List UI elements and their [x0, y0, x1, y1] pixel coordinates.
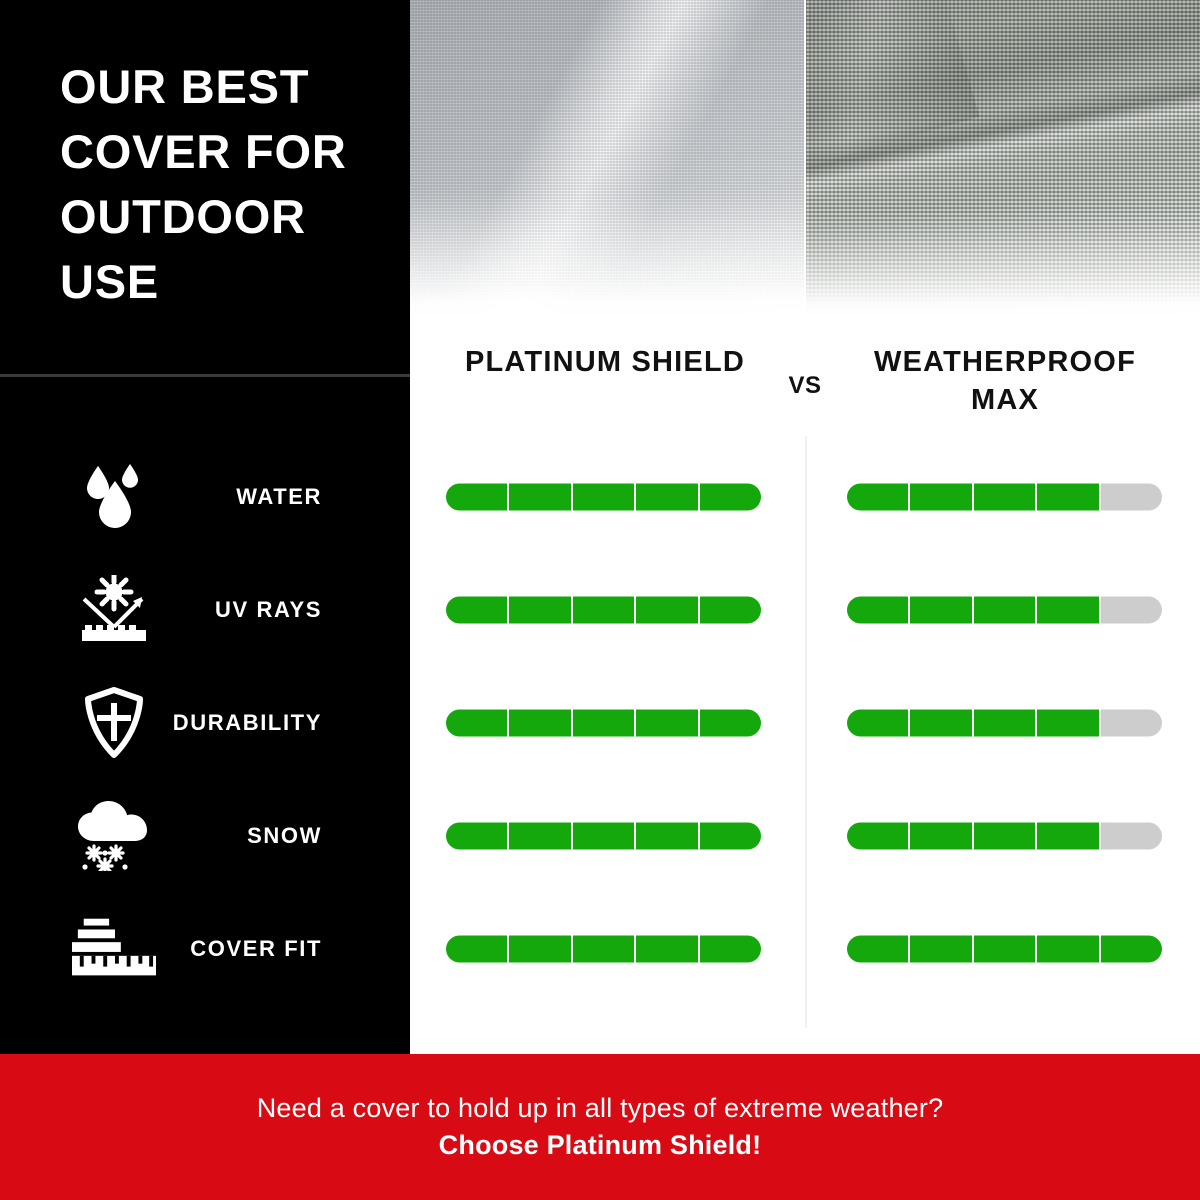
measuring-tape-icon — [72, 913, 156, 985]
rating-row — [410, 553, 1200, 666]
rating-segment — [974, 822, 1035, 849]
feature-row-uv-rays: UV RAYS — [0, 553, 410, 666]
rating-segment — [1101, 822, 1162, 849]
weave-pattern — [806, 0, 1200, 316]
fabric-texture-smooth — [410, 0, 804, 316]
rating-segment — [974, 709, 1035, 736]
rating-segment — [700, 935, 761, 962]
rating-segment — [446, 935, 507, 962]
product-photo-platinum-shield — [410, 0, 804, 316]
rating-bar-snow-platinum-shield — [446, 822, 761, 849]
product-name-weatherproof-max: WEATHERPROOF MAX — [840, 344, 1170, 419]
photo-separator — [804, 0, 806, 316]
rating-segment — [636, 709, 697, 736]
weave-pattern — [410, 0, 804, 316]
rating-segment — [509, 483, 570, 510]
vs-label: VS — [765, 372, 845, 400]
feature-label: DURABILITY — [173, 710, 322, 736]
rating-segment — [1037, 709, 1098, 736]
rating-rows — [410, 440, 1200, 1005]
rating-segment — [636, 596, 697, 623]
feature-row-cover-fit: COVER FIT — [0, 892, 410, 1005]
rating-segment — [700, 596, 761, 623]
rating-segment — [509, 935, 570, 962]
rating-segment — [700, 483, 761, 510]
rating-segment — [700, 709, 761, 736]
feature-label-list: WATER — [0, 440, 410, 1005]
rating-segment — [910, 822, 971, 849]
rating-bar-durability-platinum-shield — [446, 709, 761, 736]
product-comparison-infographic: OUR BEST COVER FOR OUTDOOR USE WATER — [0, 0, 1200, 1200]
rating-segment — [573, 483, 634, 510]
rating-row — [410, 892, 1200, 1005]
feature-row-snow: SNOW — [0, 779, 410, 892]
rating-segment — [910, 596, 971, 623]
rating-segment — [1037, 822, 1098, 849]
rating-segment — [1101, 935, 1162, 962]
rating-segment — [573, 596, 634, 623]
rating-bar-cover-fit-platinum-shield — [446, 935, 761, 962]
rating-segment — [446, 822, 507, 849]
cta-banner: Need a cover to hold up in all types of … — [0, 1054, 1200, 1200]
product-name-platinum-shield: PLATINUM SHIELD — [440, 344, 770, 382]
feature-label: SNOW — [247, 823, 322, 849]
rating-segment — [847, 935, 908, 962]
feature-row-water: WATER — [0, 440, 410, 553]
rating-segment — [446, 483, 507, 510]
rating-segment — [847, 483, 908, 510]
rating-bar-snow-weatherproof-max — [847, 822, 1162, 849]
rating-segment — [573, 822, 634, 849]
rating-segment — [974, 935, 1035, 962]
rating-segment — [636, 822, 697, 849]
rating-segment — [573, 709, 634, 736]
feature-label: COVER FIT — [190, 936, 322, 962]
shield-icon — [72, 687, 156, 759]
uv-sun-rays-icon — [72, 574, 156, 646]
rating-bar-uv-rays-weatherproof-max — [847, 596, 1162, 623]
rating-segment — [910, 709, 971, 736]
snow-cloud-icon — [72, 800, 156, 872]
rating-segment — [509, 709, 570, 736]
rating-segment — [573, 935, 634, 962]
product-photo-weatherproof-max — [806, 0, 1200, 316]
rating-segment — [446, 596, 507, 623]
rating-segment — [910, 935, 971, 962]
feature-label: WATER — [236, 484, 322, 510]
page-title: OUR BEST COVER FOR OUTDOOR USE — [60, 55, 380, 314]
fabric-texture-woven — [806, 0, 1200, 316]
rating-segment — [446, 709, 507, 736]
feature-label: UV RAYS — [215, 597, 322, 623]
rating-bar-water-weatherproof-max — [847, 483, 1162, 510]
product-headers: PLATINUM SHIELD VS WEATHERPROOF MAX — [410, 344, 1200, 436]
rating-segment — [974, 483, 1035, 510]
rating-row — [410, 779, 1200, 892]
rating-segment — [509, 822, 570, 849]
rating-bar-cover-fit-weatherproof-max — [847, 935, 1162, 962]
left-panel: OUR BEST COVER FOR OUTDOOR USE WATER — [0, 0, 410, 1054]
panel-divider — [0, 374, 410, 377]
rating-segment — [847, 709, 908, 736]
rating-bar-water-platinum-shield — [446, 483, 761, 510]
rating-segment — [1101, 709, 1162, 736]
rating-segment — [1037, 935, 1098, 962]
rating-segment — [1101, 483, 1162, 510]
feature-row-durability: DURABILITY — [0, 666, 410, 779]
rating-segment — [910, 483, 971, 510]
rating-segment — [1037, 483, 1098, 510]
rating-segment — [847, 596, 908, 623]
cta-question: Need a cover to hold up in all types of … — [257, 1093, 944, 1124]
rating-segment — [636, 483, 697, 510]
rating-segment — [1037, 596, 1098, 623]
rating-segment — [700, 822, 761, 849]
rating-bar-durability-weatherproof-max — [847, 709, 1162, 736]
rating-segment — [974, 596, 1035, 623]
rating-bar-uv-rays-platinum-shield — [446, 596, 761, 623]
rating-row — [410, 666, 1200, 779]
comparison-area: PLATINUM SHIELD VS WEATHERPROOF MAX — [410, 316, 1200, 1054]
rating-segment — [636, 935, 697, 962]
rating-row — [410, 440, 1200, 553]
cta-action: Choose Platinum Shield! — [439, 1130, 762, 1161]
rating-segment — [1101, 596, 1162, 623]
rating-segment — [847, 822, 908, 849]
water-drops-icon — [72, 461, 156, 533]
rating-segment — [509, 596, 570, 623]
